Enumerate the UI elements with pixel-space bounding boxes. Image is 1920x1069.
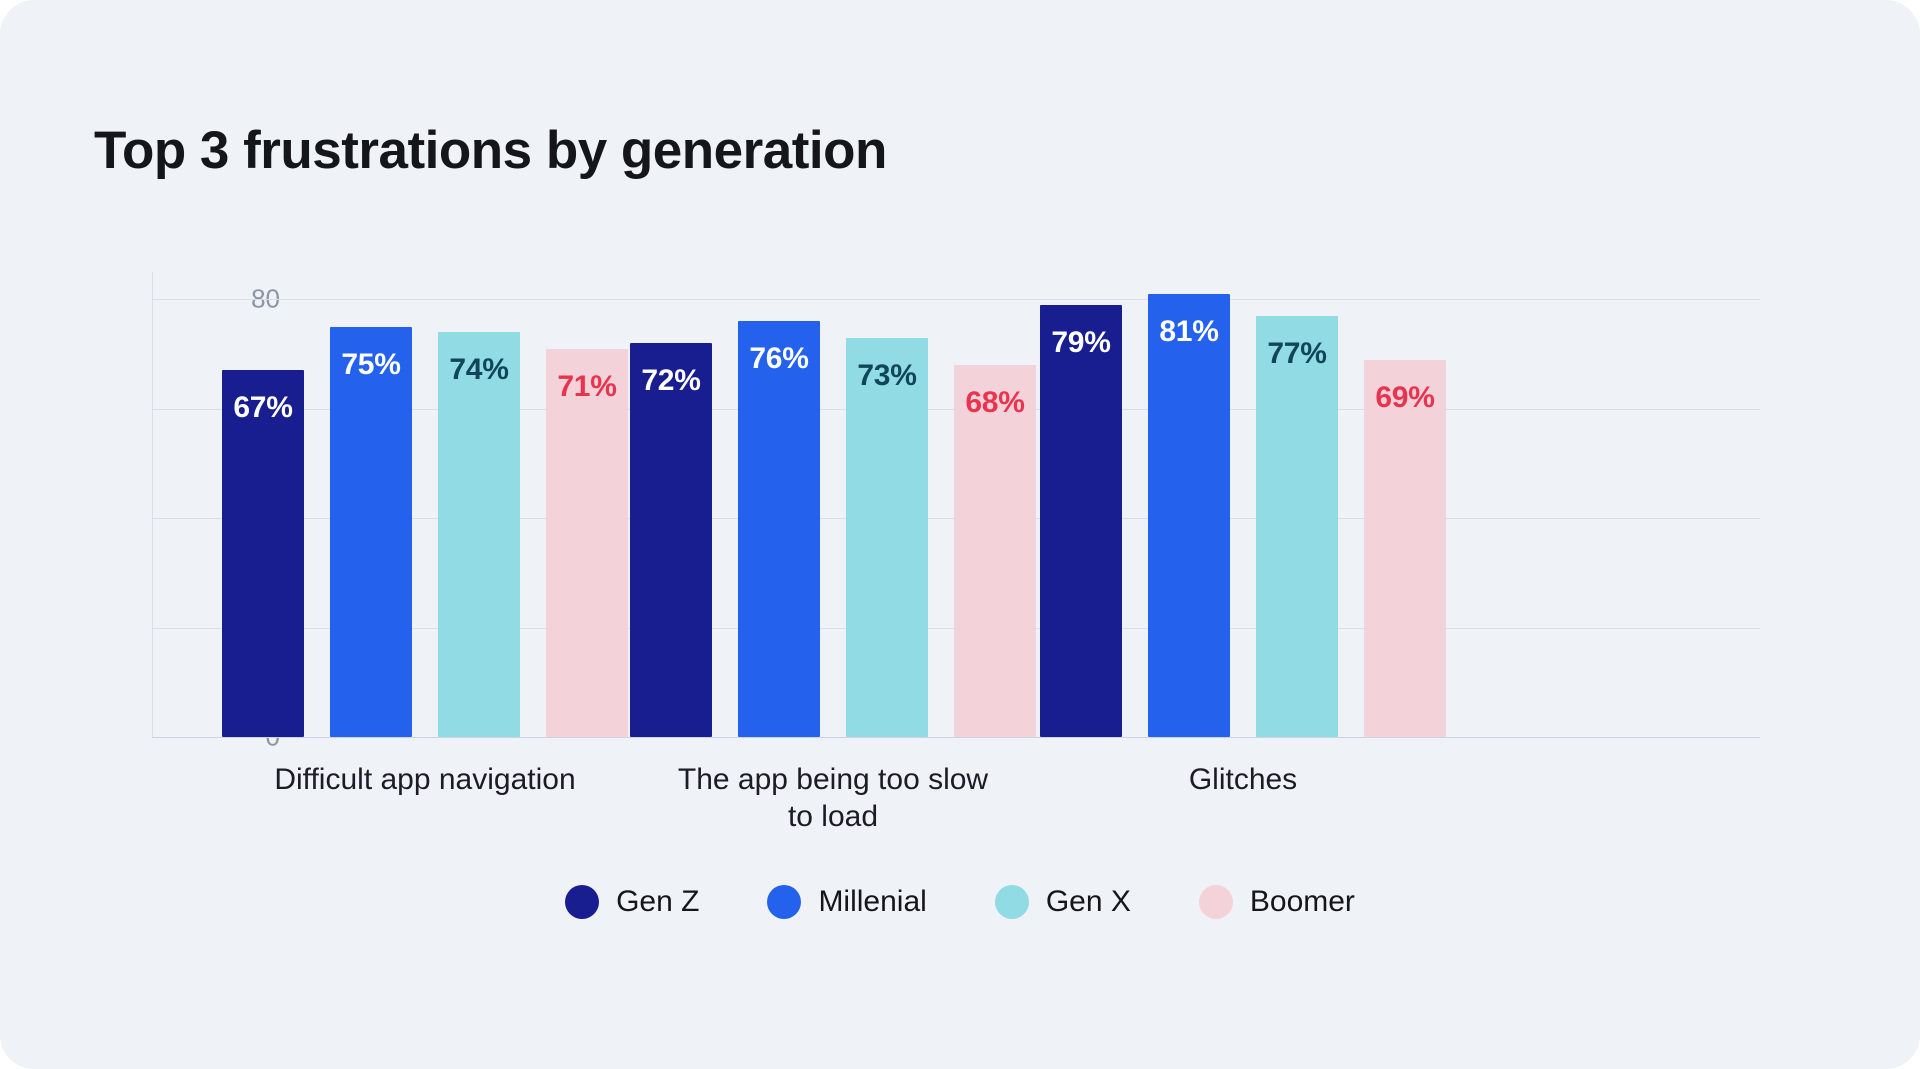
bar[interactable]	[846, 338, 928, 737]
y-axis-tick	[152, 299, 190, 300]
legend-item-label: Millenial	[818, 885, 926, 919]
page-title: Top 3 frustrations by generation	[94, 120, 887, 181]
bar-group: 79%81%77%69%	[1040, 272, 1446, 737]
x-axis-category-label: Glitches	[980, 762, 1506, 799]
legend-item-boomer[interactable]: Boomer	[1199, 885, 1355, 919]
bar[interactable]	[330, 327, 412, 737]
legend-item-millenial[interactable]: Millenial	[767, 885, 926, 919]
bar[interactable]	[630, 343, 712, 737]
y-axis-tick	[152, 628, 190, 629]
bar-group: 72%76%73%68%	[630, 272, 1036, 737]
bar-value-label: 72%	[630, 364, 712, 398]
legend-swatch-circle-icon	[767, 885, 801, 919]
bar-value-label: 77%	[1256, 337, 1338, 371]
legend-item-label: Gen X	[1046, 885, 1131, 919]
chart-legend: Gen ZMillenialGen XBoomer	[0, 885, 1920, 919]
legend-swatch-circle-icon	[565, 885, 599, 919]
bar[interactable]	[738, 321, 820, 737]
bar-value-label: 74%	[438, 353, 520, 387]
gridline	[152, 737, 1760, 738]
bar-value-label: 76%	[738, 342, 820, 376]
legend-swatch-circle-icon	[995, 885, 1029, 919]
bar-value-label: 69%	[1364, 381, 1446, 415]
bar[interactable]	[1040, 305, 1122, 737]
bar-value-label: 68%	[954, 386, 1036, 420]
bar-value-label: 73%	[846, 359, 928, 393]
bar-value-label: 79%	[1040, 326, 1122, 360]
bar[interactable]	[438, 332, 520, 737]
y-axis-tick	[152, 409, 190, 410]
plot-area: 67%75%74%71%72%76%73%68%79%81%77%69%	[152, 272, 1760, 737]
legend-item-label: Boomer	[1250, 885, 1355, 919]
bar-group: 67%75%74%71%	[222, 272, 628, 737]
bar[interactable]	[1364, 360, 1446, 737]
bar-value-label: 67%	[222, 391, 304, 425]
legend-item-gen-x[interactable]: Gen X	[995, 885, 1131, 919]
legend-item-gen-z[interactable]: Gen Z	[565, 885, 699, 919]
bar[interactable]	[954, 365, 1036, 737]
y-axis-line	[152, 272, 153, 737]
legend-item-label: Gen Z	[616, 885, 699, 919]
bar-value-label: 81%	[1148, 315, 1230, 349]
bar-value-label: 71%	[546, 370, 628, 404]
bar[interactable]	[546, 349, 628, 737]
bar[interactable]	[1256, 316, 1338, 737]
y-axis-tick	[152, 518, 190, 519]
bar-value-label: 75%	[330, 348, 412, 382]
bar[interactable]	[1148, 294, 1230, 737]
legend-swatch-circle-icon	[1199, 885, 1233, 919]
chart-card: Top 3 frustrations by generation 0204060…	[0, 0, 1920, 1069]
